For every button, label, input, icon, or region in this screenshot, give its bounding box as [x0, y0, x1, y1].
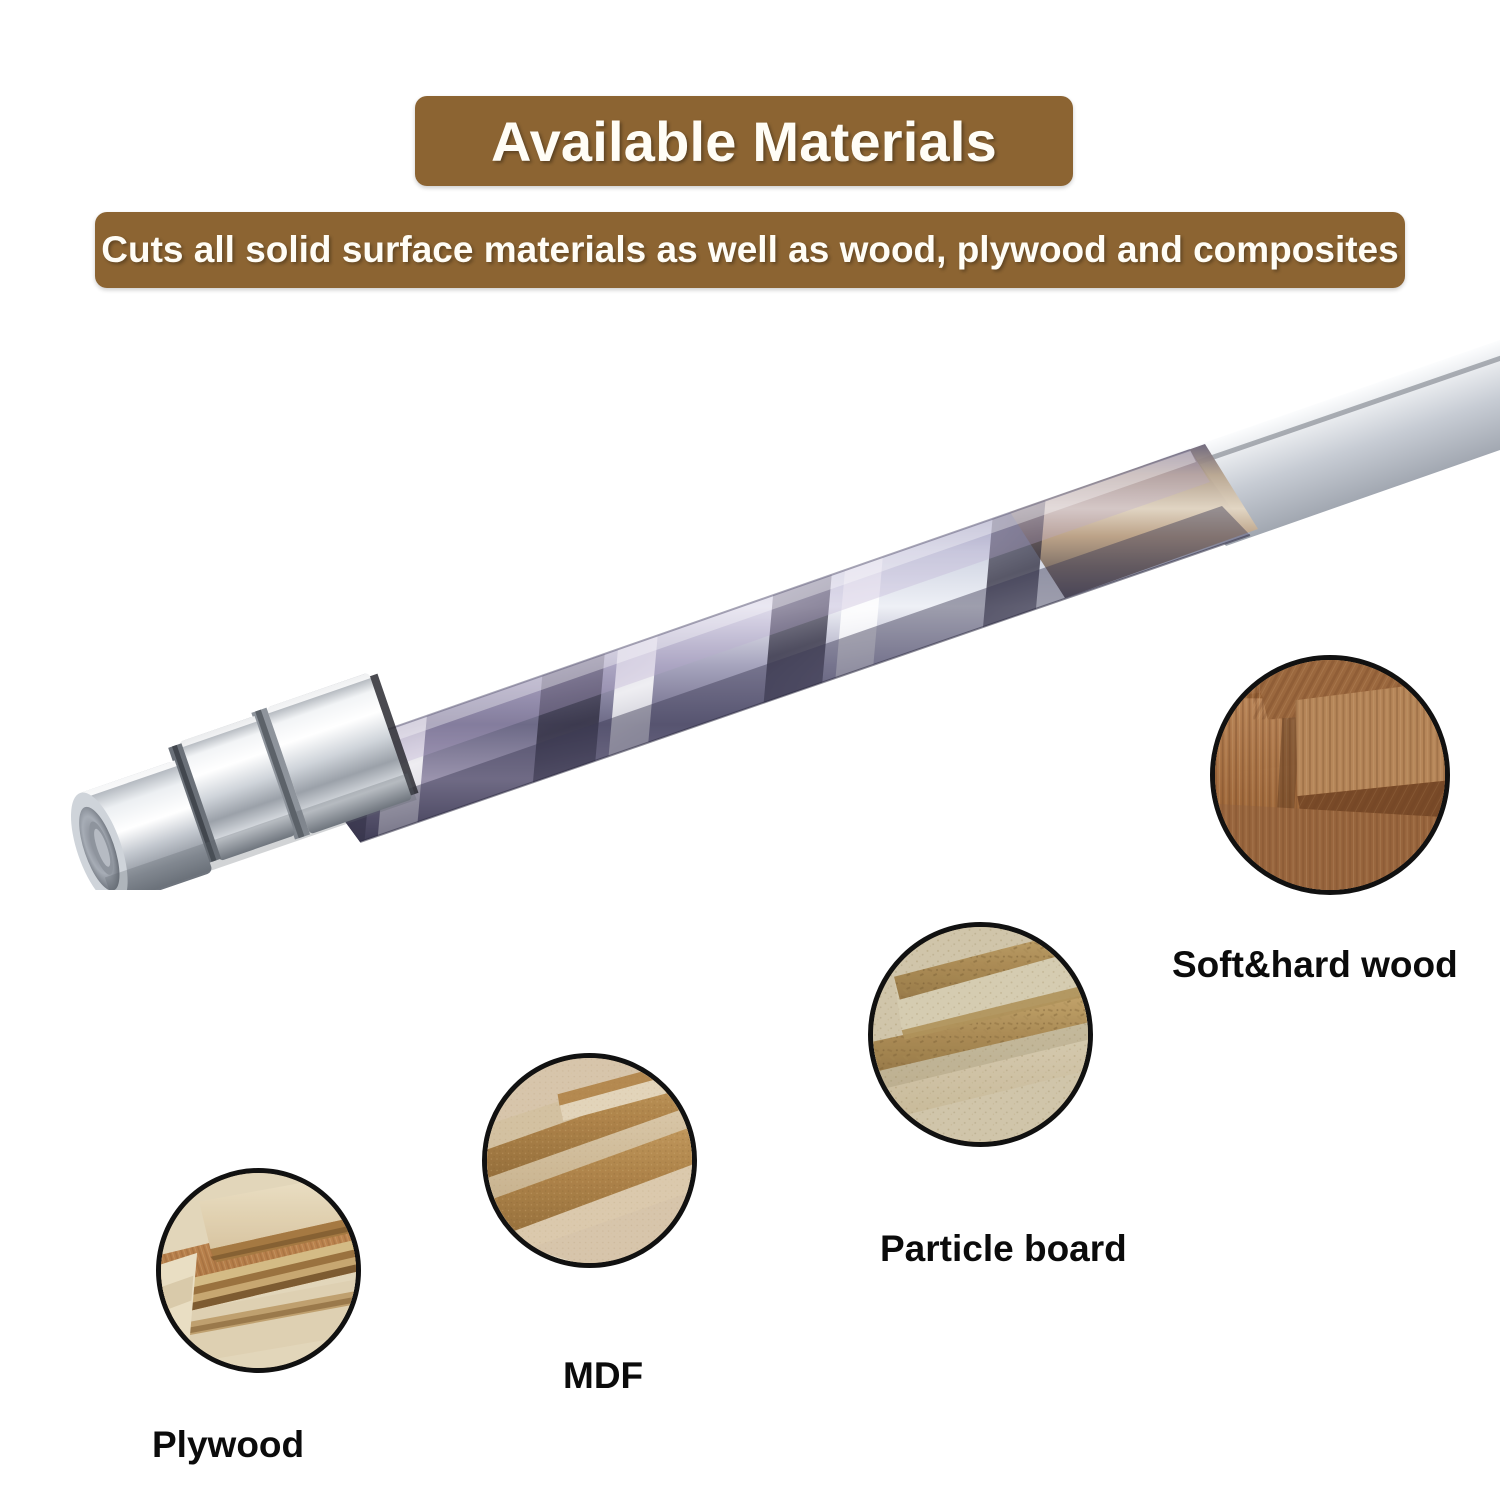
page-title: Available Materials — [491, 109, 997, 174]
material-swatch-particle-board — [868, 922, 1093, 1147]
product-infographic: Available Materials Cuts all solid surfa… — [0, 0, 1500, 1500]
material-label-plywood: Plywood — [152, 1424, 304, 1466]
material-swatch-mdf — [482, 1053, 697, 1268]
bit-bearing-assembly — [53, 670, 421, 890]
material-label-particle-board: Particle board — [880, 1228, 1127, 1270]
material-swatch-soft-hard-wood — [1210, 655, 1450, 895]
material-swatch-plywood — [156, 1168, 361, 1373]
subtitle-text: Cuts all solid surface materials as well… — [101, 229, 1398, 271]
material-label-mdf: MDF — [563, 1355, 643, 1397]
mdf-texture — [487, 1058, 692, 1263]
page-title-badge: Available Materials — [415, 96, 1073, 186]
wood-texture — [1215, 660, 1445, 890]
subtitle-banner: Cuts all solid surface materials as well… — [95, 212, 1405, 288]
particle-board-texture — [873, 927, 1088, 1142]
material-label-soft-hard-wood: Soft&hard wood — [1172, 944, 1458, 986]
plywood-texture — [161, 1173, 356, 1368]
